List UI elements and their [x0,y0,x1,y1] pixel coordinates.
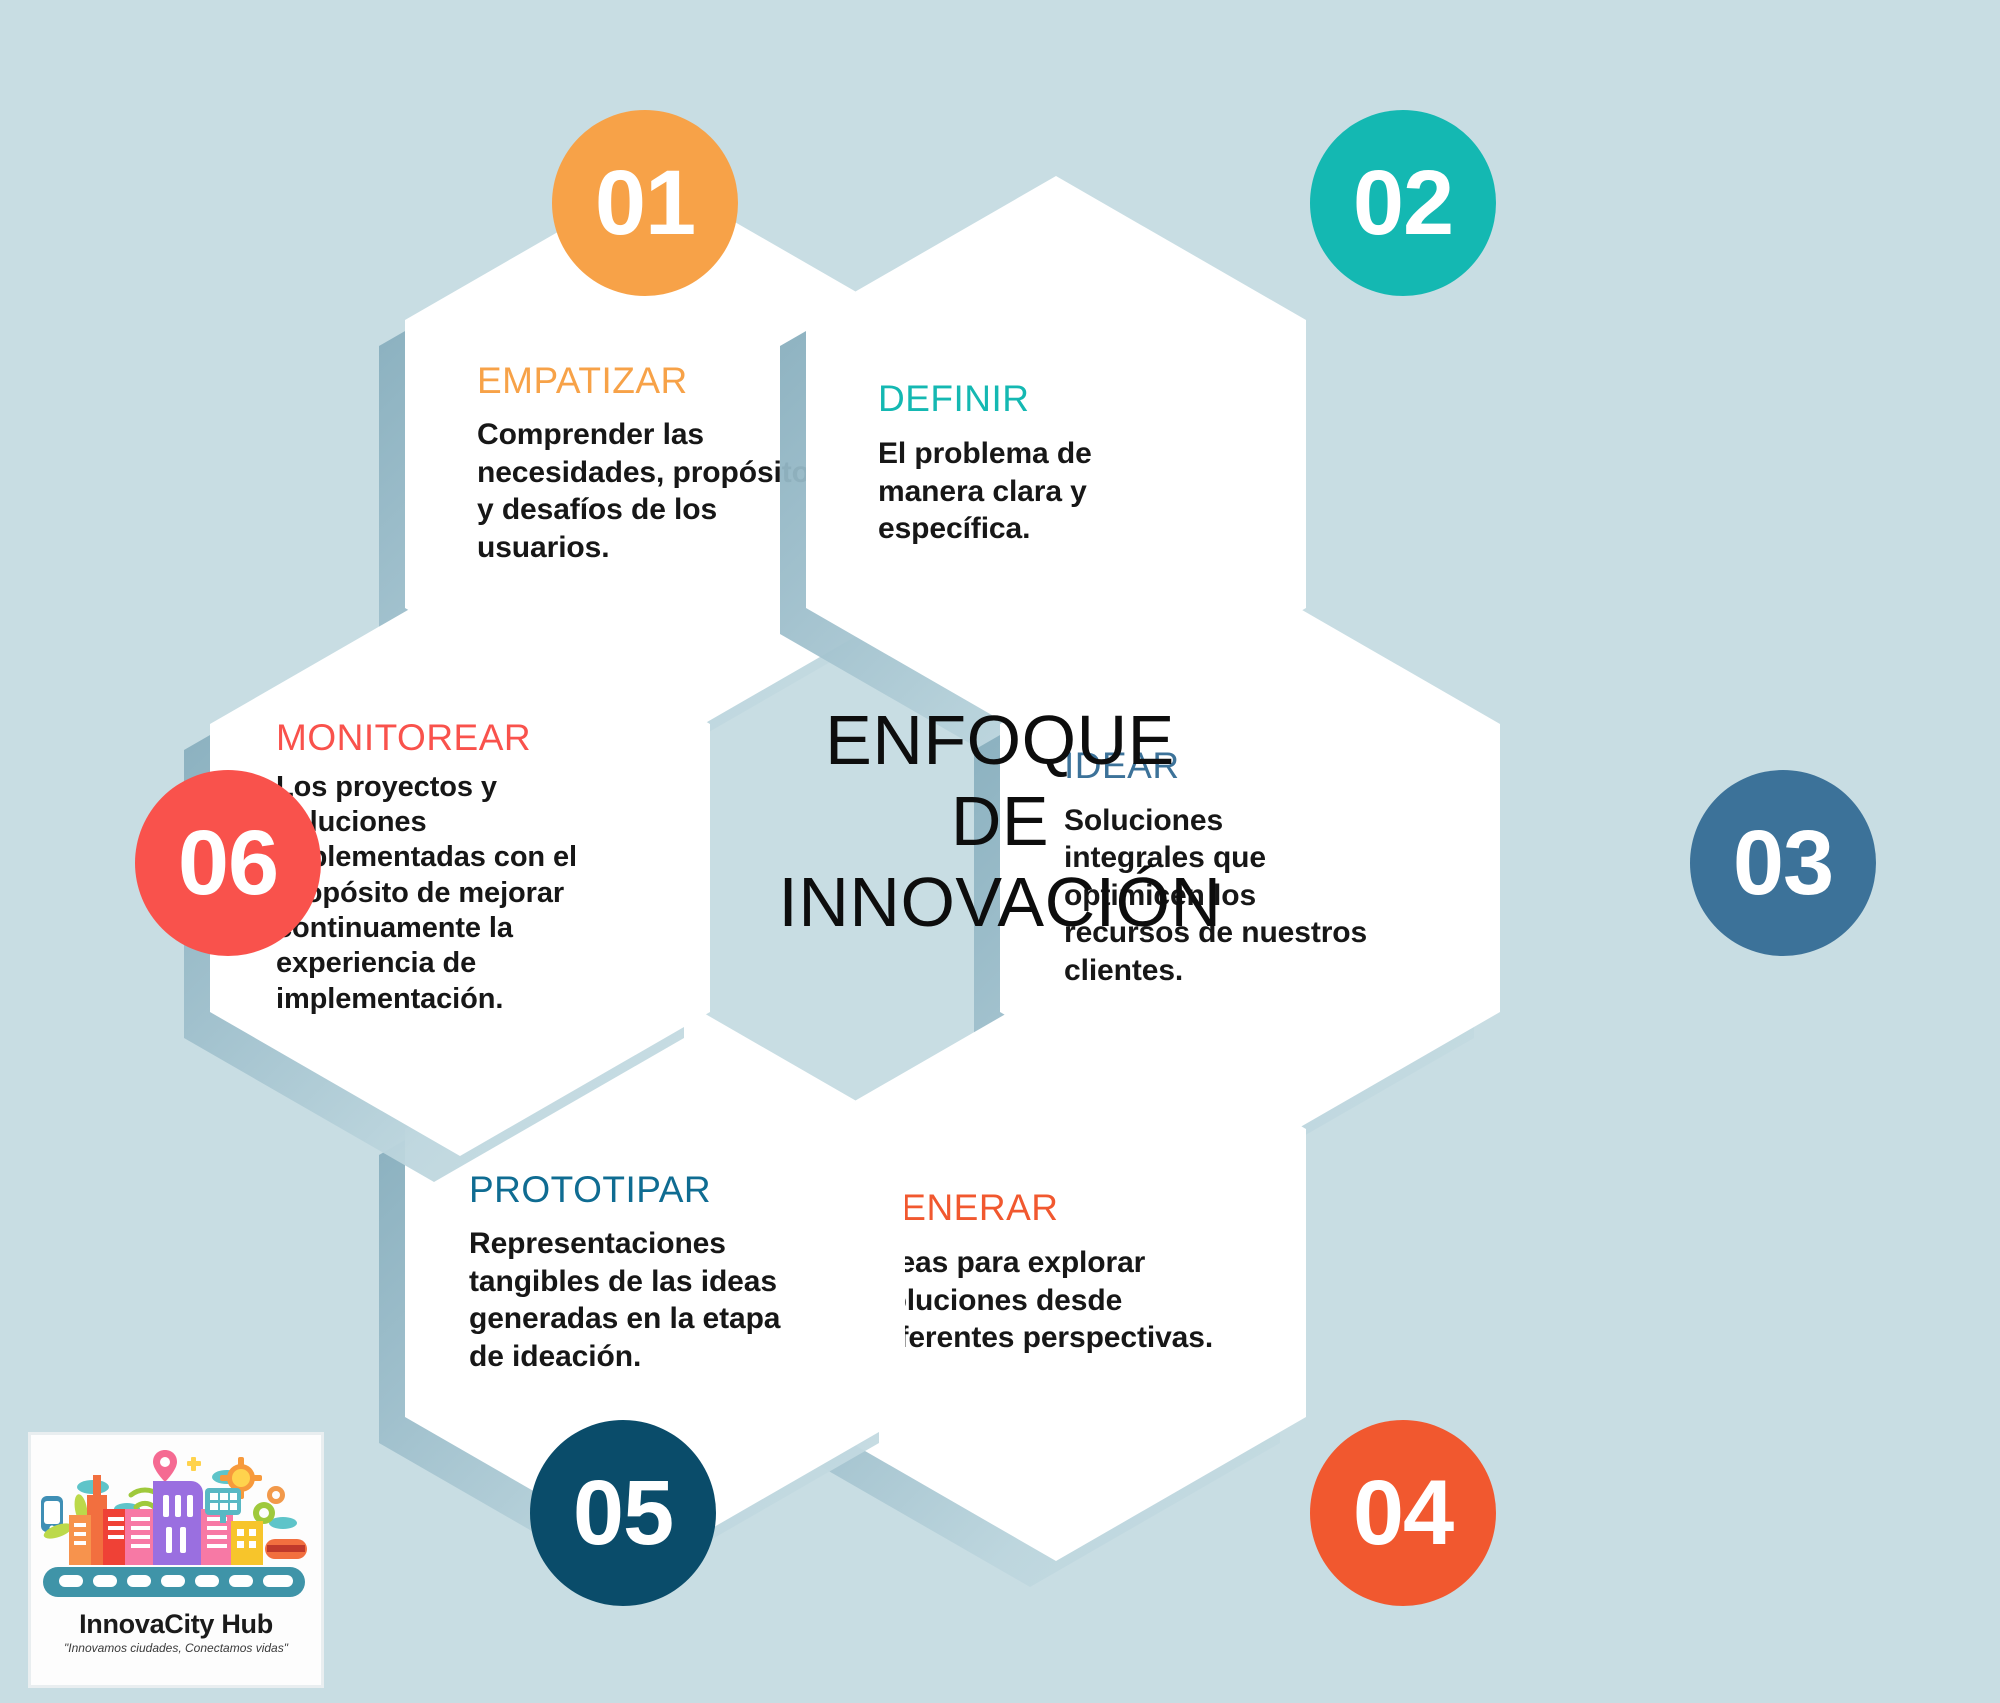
step-body-prototipar: Representaciones tangibles de las ideas … [469,1225,877,1375]
step-number-badge-05[interactable]: 05 [530,1420,716,1606]
step-title-definir: DEFINIR [878,380,1272,419]
step-number-badge-06[interactable]: 06 [135,770,321,956]
infographic-canvas: EMPATIZAR Comprender las necesidades, pr… [0,0,2000,1703]
logo-tagline: "Innovamos ciudades, Conectamos vidas" [64,1641,288,1655]
step-title-prototipar: PROTOTIPAR [469,1171,877,1210]
step-number-badge-04[interactable]: 04 [1310,1420,1496,1606]
step-title-generar: GENERAR [872,1189,1278,1228]
step-number-badge-01[interactable]: 01 [552,110,738,296]
brand-logo[interactable]: InnovaCity Hub "Innovamos ciudades, Cone… [28,1432,324,1688]
city-illustration-icon [31,1435,321,1611]
step-title-monitorear: MONITOREAR [276,719,682,758]
step-number-badge-03[interactable]: 03 [1690,770,1876,956]
page-title: ENFOQUE DE INNOVACIÓN [700,700,1300,944]
step-body-generar: Ideas para explorar soluciones desde dif… [872,1244,1278,1357]
logo-name: InnovaCity Hub [79,1609,273,1640]
step-body-monitorear: Los proyectos y soluciones implementadas… [276,770,682,1018]
step-number-badge-02[interactable]: 02 [1310,110,1496,296]
step-body-definir: El problema de manera clara y específica… [878,435,1272,548]
